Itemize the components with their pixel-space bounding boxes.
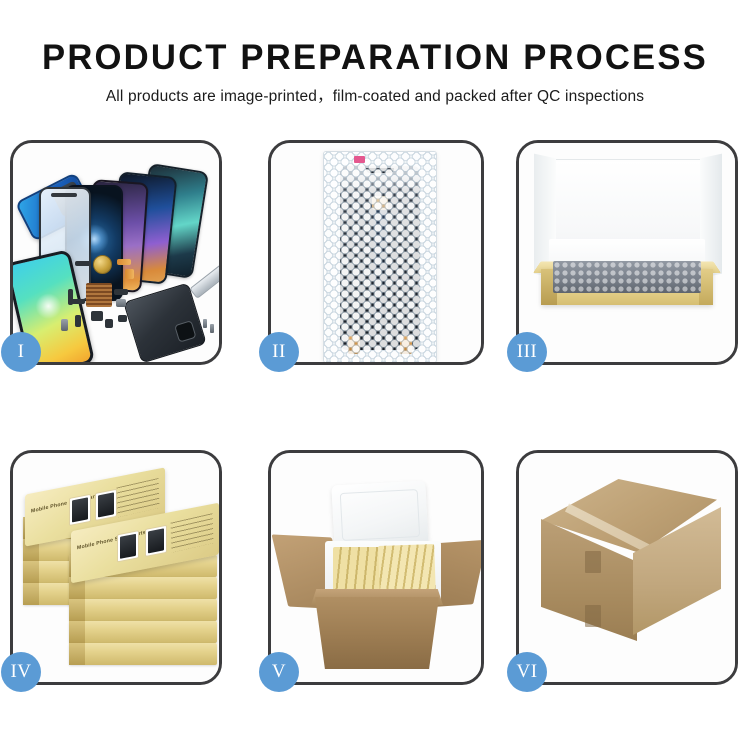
- step-panel-1: I: [10, 140, 222, 365]
- small-part-10: [61, 319, 68, 331]
- step-panel-5: V: [268, 450, 484, 685]
- open-carton: [289, 479, 469, 671]
- box-side: [69, 599, 85, 621]
- small-part-8: [91, 311, 103, 321]
- step-badge-3: III: [507, 332, 547, 372]
- screw-part-2: [210, 324, 214, 333]
- step-badge-5: V: [259, 652, 299, 692]
- bubble-wrapped-contents: [553, 261, 701, 293]
- step-4-image: Mobile Phone Spare Parts Mobile Phone Sp…: [13, 453, 219, 682]
- carton-packing-scene: [271, 453, 481, 682]
- step-2-image: [271, 143, 481, 362]
- box-spec-lines: [170, 513, 213, 552]
- screw-part-1: [203, 319, 207, 328]
- small-part-3: [125, 269, 134, 279]
- box-thumbnail-2: [95, 489, 117, 521]
- copper-mesh-part: [86, 283, 112, 307]
- small-part-12: [118, 315, 127, 322]
- box-side: [23, 561, 39, 583]
- thumbnail-screen-icon: [98, 492, 114, 517]
- carton-tab-lower: [585, 605, 601, 627]
- box-side: [69, 621, 85, 643]
- step-6-image: [519, 453, 735, 682]
- thumbnail-screen-icon: [148, 528, 164, 553]
- yellow-boxes-row-2: [378, 544, 436, 596]
- step-badge-2: II: [259, 332, 299, 372]
- step-1-image: [13, 143, 219, 362]
- box-thumbnail-2: [145, 525, 167, 557]
- speaker-coil-part: [93, 255, 112, 274]
- step-3-image: [519, 143, 735, 362]
- step-badge-6: VI: [507, 652, 547, 692]
- box-side: [23, 583, 39, 605]
- stacked-box-7: [69, 599, 217, 621]
- step-panel-6: VI: [516, 450, 738, 685]
- pink-seal-tab: [354, 156, 365, 163]
- inner-box-scene: [519, 143, 735, 362]
- steps-grid: I II: [0, 133, 750, 698]
- box-spec-lines: [116, 478, 159, 517]
- small-part-5: [71, 299, 85, 304]
- bubble-wrap-scene: [271, 143, 481, 362]
- page-title: PRODUCT PREPARATION PROCESS: [4, 0, 747, 78]
- thumbnail-screen-icon: [120, 534, 136, 559]
- small-part-2: [117, 259, 131, 265]
- carton-front-face: [315, 597, 439, 669]
- bubble-wrap-bag: [323, 151, 437, 362]
- step-badge-1: I: [1, 332, 41, 372]
- camera-module-icon: [174, 320, 196, 342]
- small-part-6: [114, 289, 128, 295]
- small-part-11: [105, 319, 113, 328]
- step-panel-3: III: [516, 140, 738, 365]
- box-stack: Mobile Phone Spare Parts Mobile Phone Sp…: [21, 473, 217, 671]
- box-side: [69, 643, 85, 665]
- thumbnail-screen-icon: [72, 497, 88, 522]
- sealed-carton: [533, 479, 725, 655]
- box-thumbnail-1: [117, 530, 139, 562]
- bubble-texture: [323, 151, 437, 362]
- header: PRODUCT PREPARATION PROCESS All products…: [0, 0, 750, 107]
- page-subtitle: All products are image-printed，film-coat…: [0, 78, 750, 107]
- small-part-7: [116, 299, 126, 307]
- stacked-box-6: [69, 577, 217, 599]
- product-preparation-infographic: PRODUCT PREPARATION PROCESS All products…: [0, 0, 750, 750]
- small-part-9: [75, 315, 81, 327]
- step-badge-4: IV: [1, 652, 41, 692]
- box-thumbnail-1: [69, 494, 91, 526]
- carton-tab-upper: [585, 551, 601, 573]
- step-panel-4: Mobile Phone Spare Parts Mobile Phone Sp…: [10, 450, 222, 685]
- step-panel-2: II: [268, 140, 484, 365]
- sealed-carton-scene: [519, 453, 735, 682]
- step-5-image: [271, 453, 481, 682]
- small-part-1: [75, 261, 91, 266]
- phone-parts-scene: [13, 143, 219, 362]
- stacked-box-8: [69, 621, 217, 643]
- stacked-boxes-scene: Mobile Phone Spare Parts Mobile Phone Sp…: [13, 453, 219, 682]
- stacked-box-9: [69, 643, 217, 665]
